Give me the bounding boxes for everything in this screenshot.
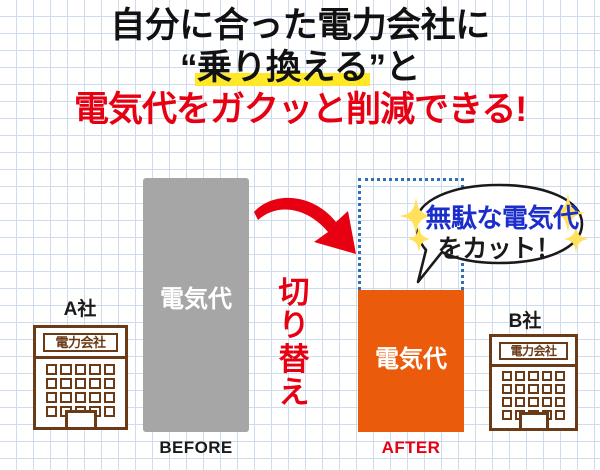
window-icon [555, 410, 565, 420]
window-icon [75, 364, 86, 375]
window-icon [555, 397, 565, 407]
building-b-sign-rule [492, 364, 575, 367]
company-label-a: A社 [25, 294, 135, 321]
caption-before: BEFORE [116, 438, 276, 458]
window-icon [542, 384, 552, 394]
window-icon [75, 392, 86, 403]
window-icon [502, 384, 512, 394]
window-icon [75, 378, 86, 389]
savings-speech-bubble: 無駄な電気代 をカット！ [404, 181, 594, 289]
headline-line-1: 自分に合った電力会社に [0, 6, 600, 47]
company-label-b: B社 [470, 306, 580, 333]
window-icon [542, 371, 552, 381]
window-icon [515, 371, 525, 381]
bar-after: 電気代 [358, 290, 464, 432]
window-icon [46, 406, 57, 417]
building-a-sign: 電力会社 [43, 333, 118, 352]
window-icon [60, 392, 71, 403]
window-icon [528, 371, 538, 381]
headline-line-2: “乗り換える”と [0, 48, 600, 89]
headline-block: 自分に合った電力会社に “乗り換える”と 電気代をガクッと削減できる! [0, 6, 600, 131]
building-b-sign: 電力会社 [499, 342, 568, 360]
switch-label: 切り替え [272, 276, 316, 410]
bar-after-label: 電気代 [358, 339, 464, 374]
window-icon [502, 410, 512, 420]
headline-quote-close: ” [368, 48, 385, 89]
window-icon [89, 364, 100, 375]
window-icon [528, 397, 538, 407]
window-icon [555, 371, 565, 381]
headline-highlighted-phrase: 乗り換える [197, 48, 368, 89]
window-icon [104, 378, 115, 389]
window-icon [104, 364, 115, 375]
window-icon [60, 378, 71, 389]
headline-line-2-tail: と [385, 48, 420, 87]
window-icon [104, 392, 115, 403]
infographic-canvas: 自分に合った電力会社に “乗り換える”と 電気代をガクッと削減できる! 電気代 … [0, 0, 600, 470]
building-icon-b: 電力会社 [489, 334, 578, 431]
window-icon [502, 397, 512, 407]
window-icon [46, 364, 57, 375]
window-icon [46, 392, 57, 403]
building-icon-a: 電力会社 [33, 325, 128, 430]
window-icon [515, 384, 525, 394]
window-icon [515, 397, 525, 407]
door-icon [65, 410, 97, 427]
bubble-line-2: をカット！ [404, 229, 594, 265]
door-icon [519, 412, 549, 428]
window-icon [542, 397, 552, 407]
bar-before: 電気代 [143, 178, 249, 432]
bar-before-label: 電気代 [143, 279, 249, 314]
switch-arrow-icon [252, 192, 372, 260]
window-icon [555, 384, 565, 394]
window-icon [528, 384, 538, 394]
window-icon [502, 371, 512, 381]
window-icon [46, 378, 57, 389]
window-icon [104, 406, 115, 417]
window-icon [89, 392, 100, 403]
headline-line-3: 電気代をガクッと削減できる! [0, 90, 600, 131]
caption-after: AFTER [331, 438, 491, 458]
window-icon [60, 364, 71, 375]
window-icon [89, 378, 100, 389]
building-a-sign-rule [36, 356, 125, 359]
